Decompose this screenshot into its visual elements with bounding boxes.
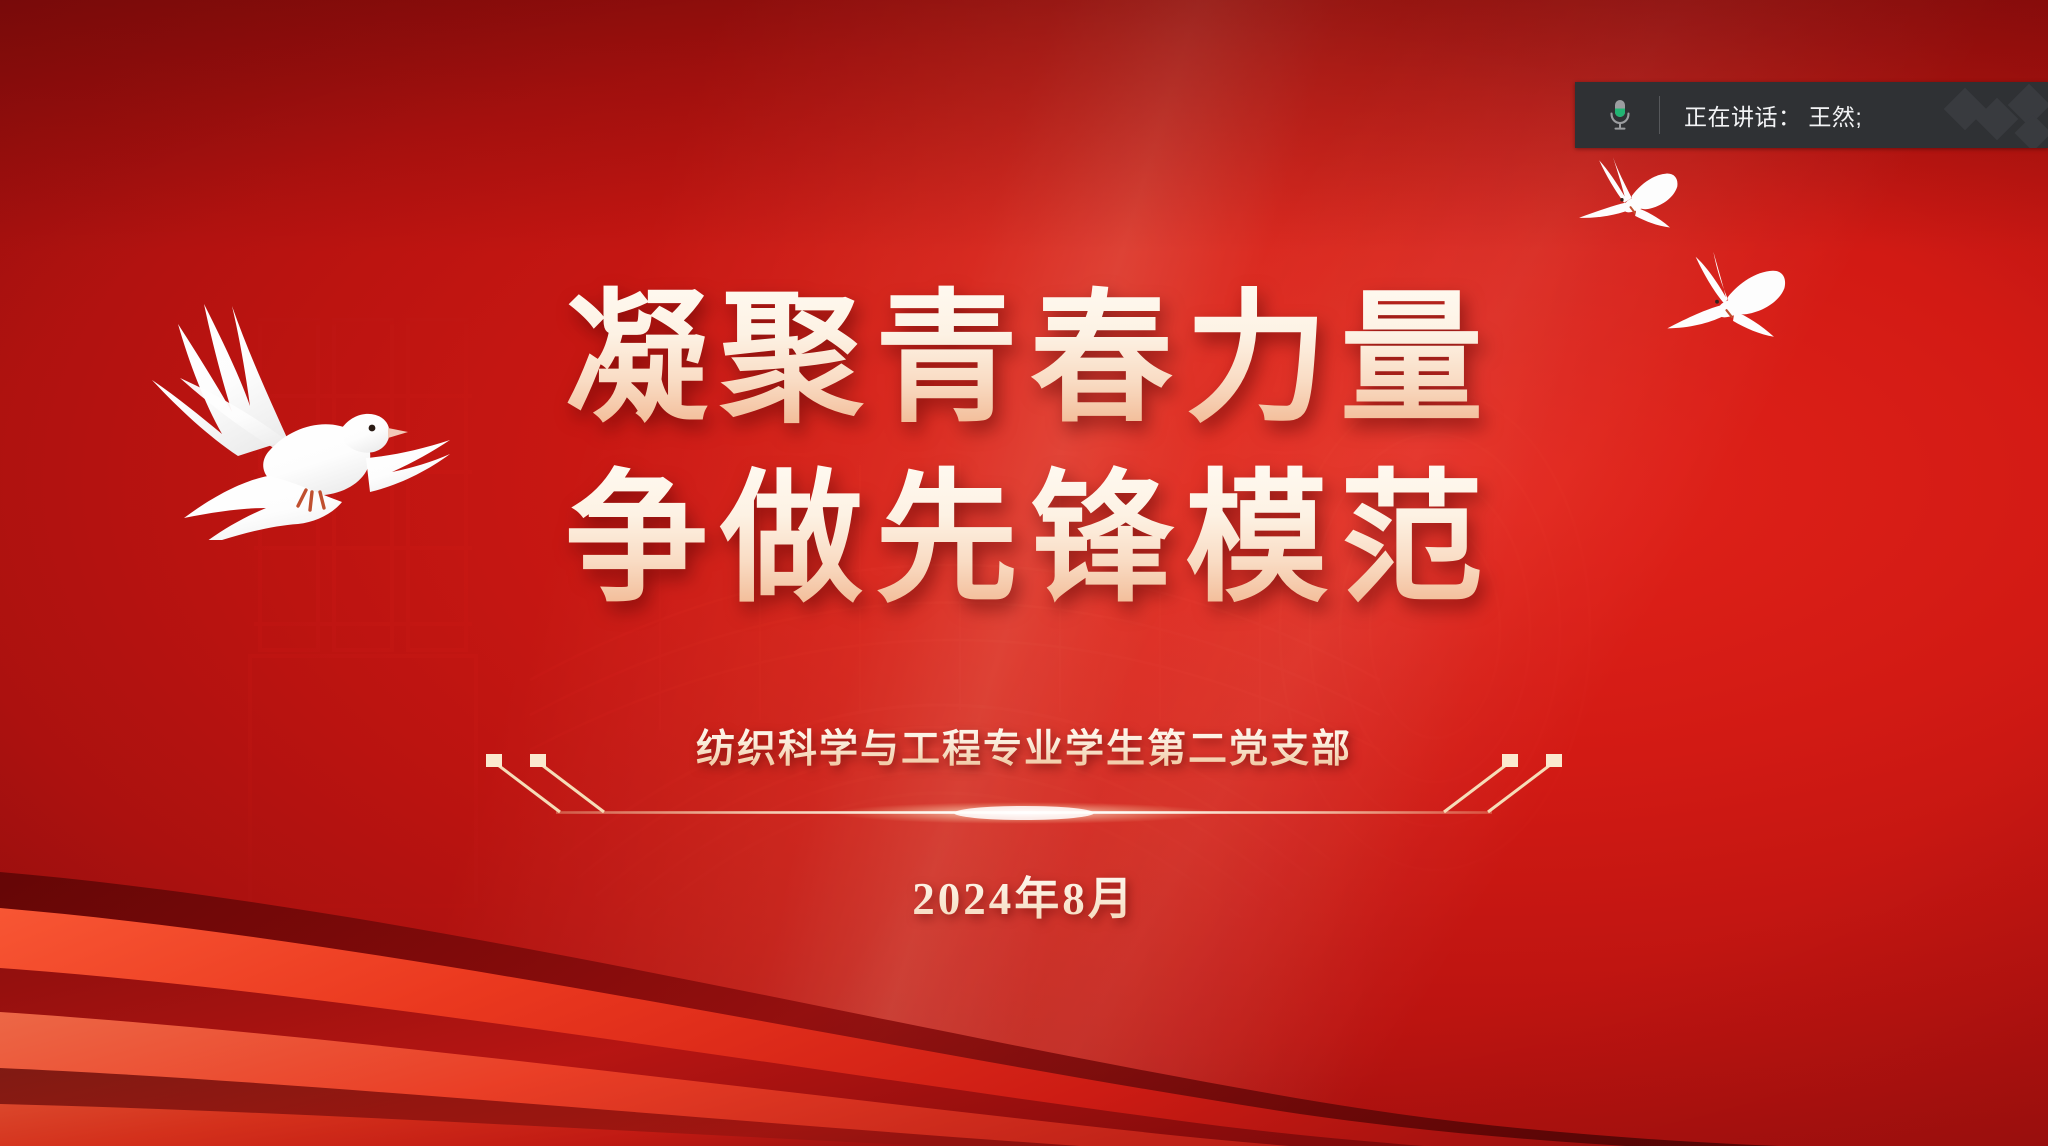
- slide-date: 2024年8月: [0, 862, 2048, 927]
- subtitle-frame: 纺织科学与工程专业学生第二党支部: [624, 718, 1424, 828]
- bracket-frame-decoration: [464, 746, 1584, 828]
- microphone-icon[interactable]: [1606, 98, 1634, 132]
- title-line-1: 凝聚青春力量: [0, 278, 2048, 444]
- speaking-label: 正在讲话： 王然;: [1684, 98, 1862, 132]
- title-line-2: 争做先锋模范: [0, 458, 2048, 624]
- presentation-slide: 凝聚青春力量 争做先锋模范 纺织科学与工程专业学生第二党支部: [0, 0, 2048, 1146]
- bar-divider: [1659, 96, 1660, 134]
- speaking-status-bar[interactable]: 正在讲话： 王然;: [1575, 82, 2048, 148]
- slide-title: 凝聚青春力量 争做先锋模范: [0, 278, 2048, 624]
- diamond-pattern-watermark: [1938, 82, 2048, 148]
